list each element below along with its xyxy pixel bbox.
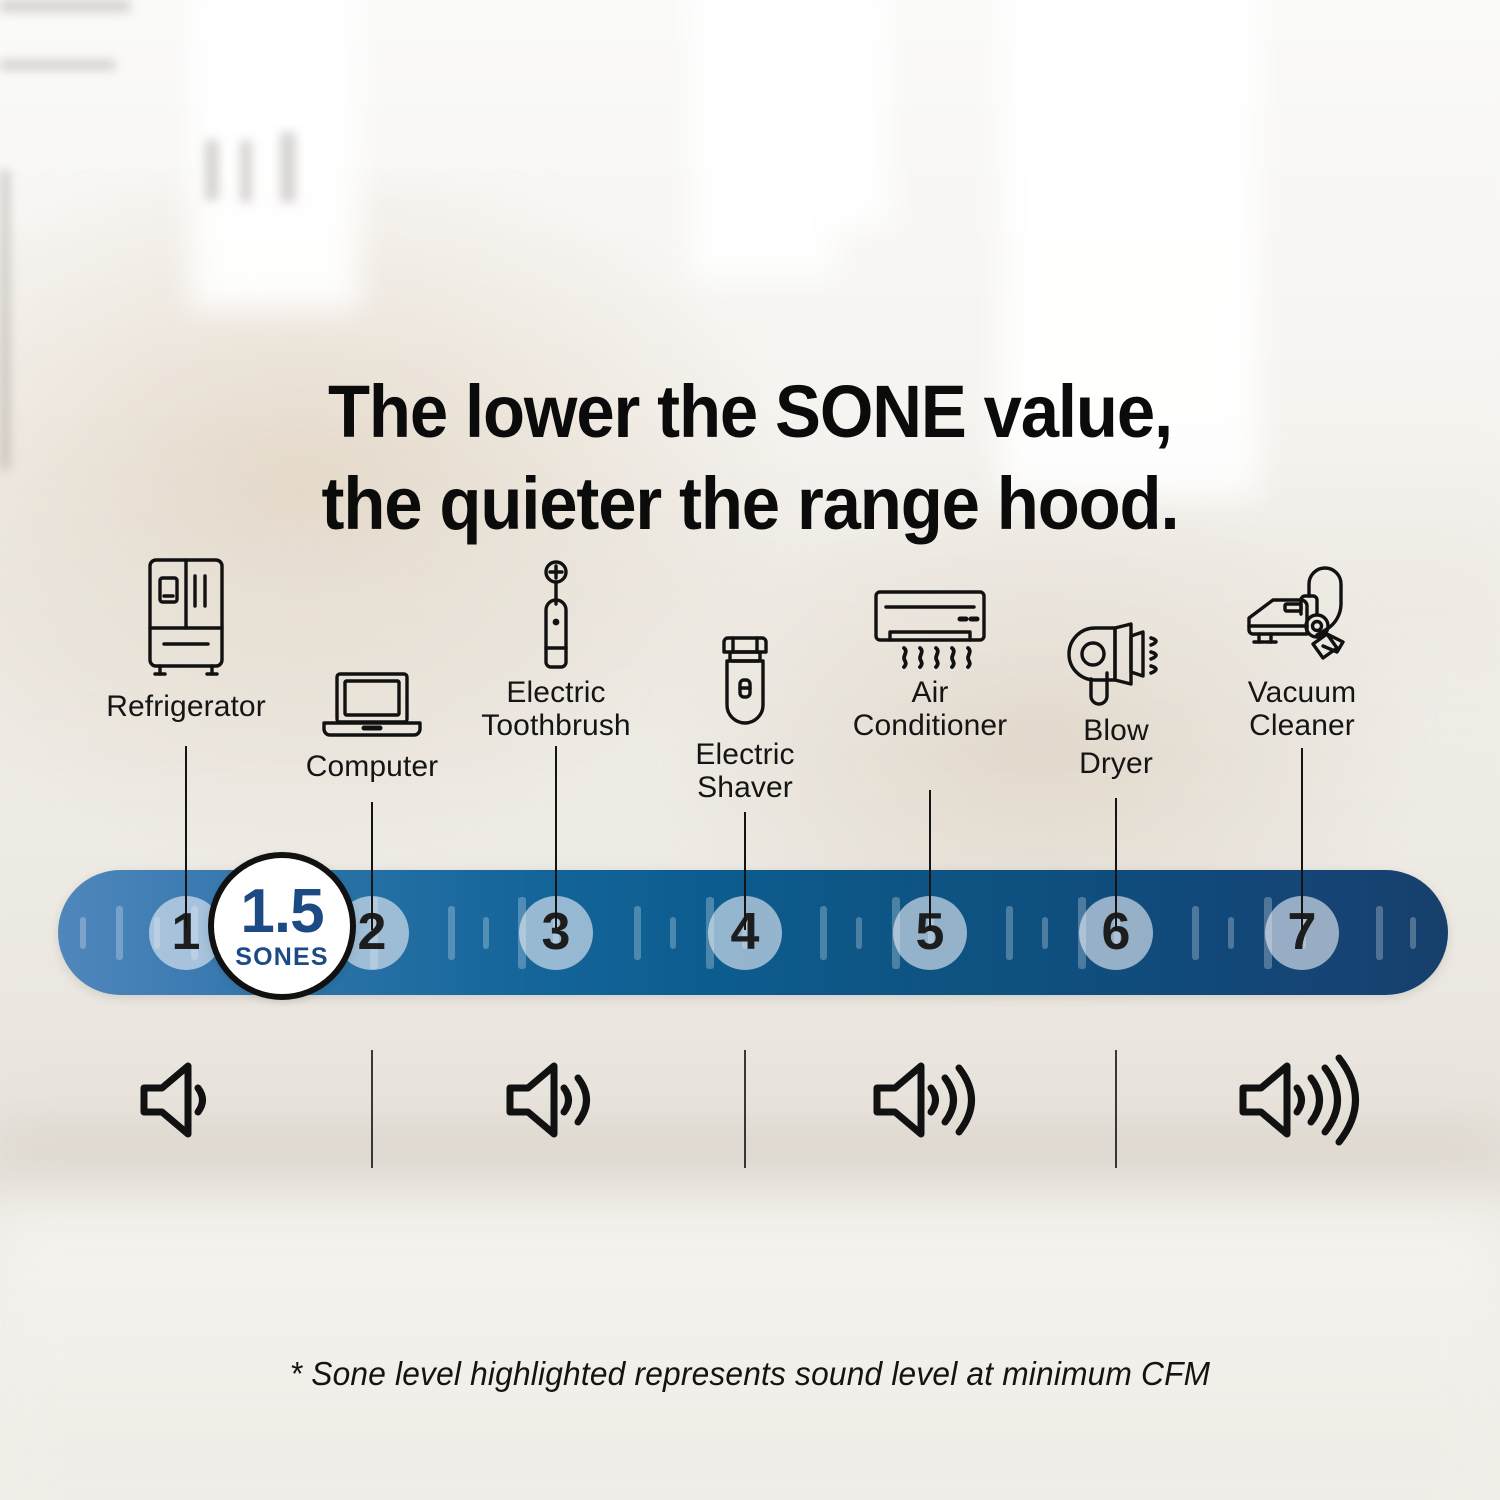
connector-line-vacuum-cleaner — [1301, 748, 1303, 930]
appliance-label-electric-toothbrush: Electric Toothbrush — [481, 676, 630, 742]
connector-line-blow-dryer — [1115, 798, 1117, 930]
appliance-label-refrigerator: Refrigerator — [106, 690, 266, 723]
appliance-label-blow-dryer: Blow Dryer — [1079, 714, 1153, 780]
connector-line-computer — [371, 802, 373, 930]
appliance-label-electric-shaver: Electric Shaver — [695, 738, 794, 804]
badge-unit: SONES — [235, 944, 329, 970]
connector-line-electric-toothbrush — [555, 746, 557, 928]
connector-line-electric-shaver — [744, 812, 746, 930]
connector-line-air-conditioner — [929, 790, 931, 930]
electric-toothbrush-icon — [528, 560, 584, 670]
blow-dryer-icon — [1061, 622, 1171, 708]
laptop-computer-icon — [318, 668, 426, 742]
vacuum-cleaner-icon — [1241, 560, 1363, 668]
connector-line-refrigerator — [185, 746, 187, 928]
electric-shaver-icon — [714, 628, 776, 732]
air-conditioner-icon — [868, 588, 992, 670]
highlighted-sone-badge[interactable]: 1.5 SONES — [208, 852, 356, 1000]
appliance-label-computer: Computer — [306, 750, 439, 783]
badge-value: 1.5 — [240, 882, 323, 942]
appliance-label-vacuum-cleaner: Vacuum Cleaner — [1248, 676, 1356, 742]
appliance-reference-group: Refrigerator Computer — [0, 0, 1500, 1500]
appliance-label-air-conditioner: Air Conditioner — [853, 676, 1008, 742]
refrigerator-icon — [140, 556, 232, 681]
